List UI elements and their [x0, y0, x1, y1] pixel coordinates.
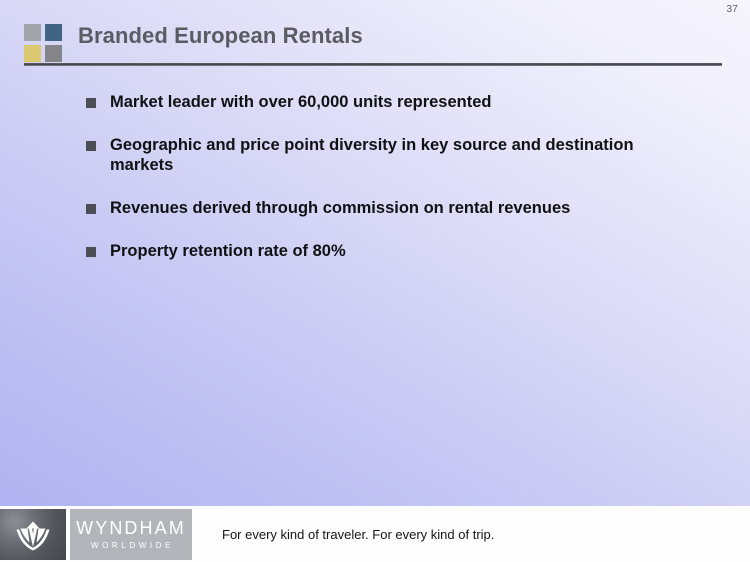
bullet-list: Market leader with over 60,000 units rep…: [86, 92, 686, 261]
list-item: Property retention rate of 80%: [86, 241, 686, 262]
presentation-slide: 37 Branded European Rentals Market leade…: [0, 0, 750, 562]
four-square-logo-icon: [24, 24, 62, 62]
list-item: Revenues derived through commission on r…: [86, 198, 686, 219]
title-divider: [24, 63, 722, 66]
list-item-text: Market leader with over 60,000 units rep…: [110, 93, 492, 111]
page-number: 37: [726, 4, 738, 15]
slide-footer: WYNDHAM WORLDWIDE For every kind of trav…: [0, 506, 750, 562]
logo-square-bottom-left: [24, 45, 41, 62]
brand-subtitle: WORLDWIDE: [88, 542, 174, 550]
list-item: Geographic and price point diversity in …: [86, 135, 686, 176]
wyndham-wordmark: WYNDHAM WORLDWIDE: [70, 509, 192, 560]
bullet-square-icon: [86, 98, 96, 108]
logo-square-top-left: [24, 24, 41, 41]
bullet-square-icon: [86, 247, 96, 257]
logo-square-bottom-right: [45, 45, 62, 62]
brand-name: WYNDHAM: [76, 519, 186, 537]
list-item: Market leader with over 60,000 units rep…: [86, 92, 686, 113]
footer-tagline: For every kind of traveler. For every ki…: [222, 506, 494, 562]
logo-square-top-right: [45, 24, 62, 41]
list-item-text: Revenues derived through commission on r…: [110, 199, 570, 217]
bullet-square-icon: [86, 204, 96, 214]
slide-header: Branded European Rentals: [0, 18, 750, 74]
page-title: Branded European Rentals: [78, 23, 363, 49]
list-item-text: Geographic and price point diversity in …: [110, 136, 634, 175]
wyndham-w-crown-icon: [0, 509, 66, 560]
bullet-square-icon: [86, 141, 96, 151]
list-item-text: Property retention rate of 80%: [110, 242, 346, 260]
